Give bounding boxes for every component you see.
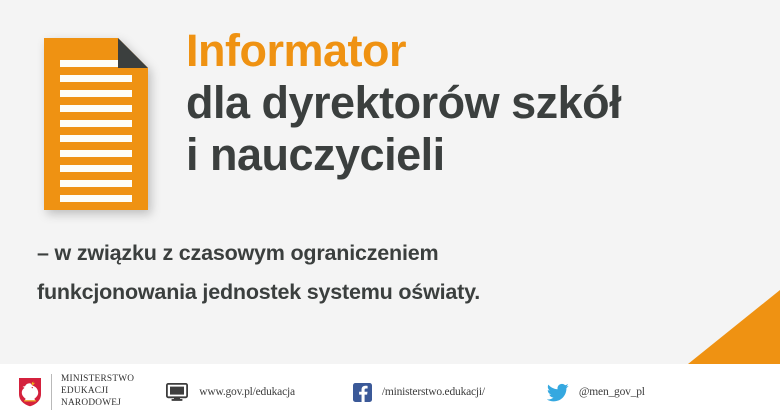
document-icon <box>44 38 148 210</box>
website-link-label: www.gov.pl/edukacja <box>199 386 295 398</box>
ministry-name-line-1: MINISTERSTWO <box>61 374 134 386</box>
headline-block: Informator dla dyrektorów szkół i nauczy… <box>186 28 621 184</box>
footer-bar: MINISTERSTWO EDUKACJI NARODOWEJ www.gov.… <box>0 364 780 420</box>
headline-line-secondary: dla dyrektorów szkół <box>186 80 621 125</box>
subtitle-line-2: funkcjonowania jednostek systemu oświaty… <box>37 282 677 304</box>
hero-section: Informator dla dyrektorów szkół i nauczy… <box>0 0 780 232</box>
twitter-link[interactable]: @men_gov_pl <box>547 383 645 402</box>
facebook-icon <box>353 383 372 402</box>
orange-triangle-shape <box>688 290 780 364</box>
polish-coat-of-arms-icon <box>18 377 42 407</box>
ministry-logo-lockup: MINISTERSTWO EDUKACJI NARODOWEJ <box>18 374 134 410</box>
subtitle-line-1: – w związku z czasowym ograniczeniem <box>37 243 677 265</box>
website-link[interactable]: www.gov.pl/edukacja <box>166 383 295 401</box>
ministry-name-line-3: NARODOWEJ <box>61 398 134 410</box>
ministry-name-line-2: EDUKACJI <box>61 386 134 398</box>
poster-canvas: Informator dla dyrektorów szkół i nauczy… <box>0 0 780 420</box>
ministry-name: MINISTERSTWO EDUKACJI NARODOWEJ <box>51 374 134 410</box>
facebook-link-label: /ministerstwo.edukacji/ <box>382 386 485 398</box>
twitter-link-label: @men_gov_pl <box>579 386 645 398</box>
headline-line-primary: Informator <box>186 28 621 73</box>
twitter-icon <box>547 383 569 402</box>
facebook-link[interactable]: /ministerstwo.edukacji/ <box>353 383 485 402</box>
subtitle-block: – w związku z czasowym ograniczeniem fun… <box>37 243 677 320</box>
orange-corner-decoration <box>688 290 780 364</box>
headline-line-tertiary: i nauczycieli <box>186 132 621 177</box>
monitor-icon <box>166 383 188 401</box>
